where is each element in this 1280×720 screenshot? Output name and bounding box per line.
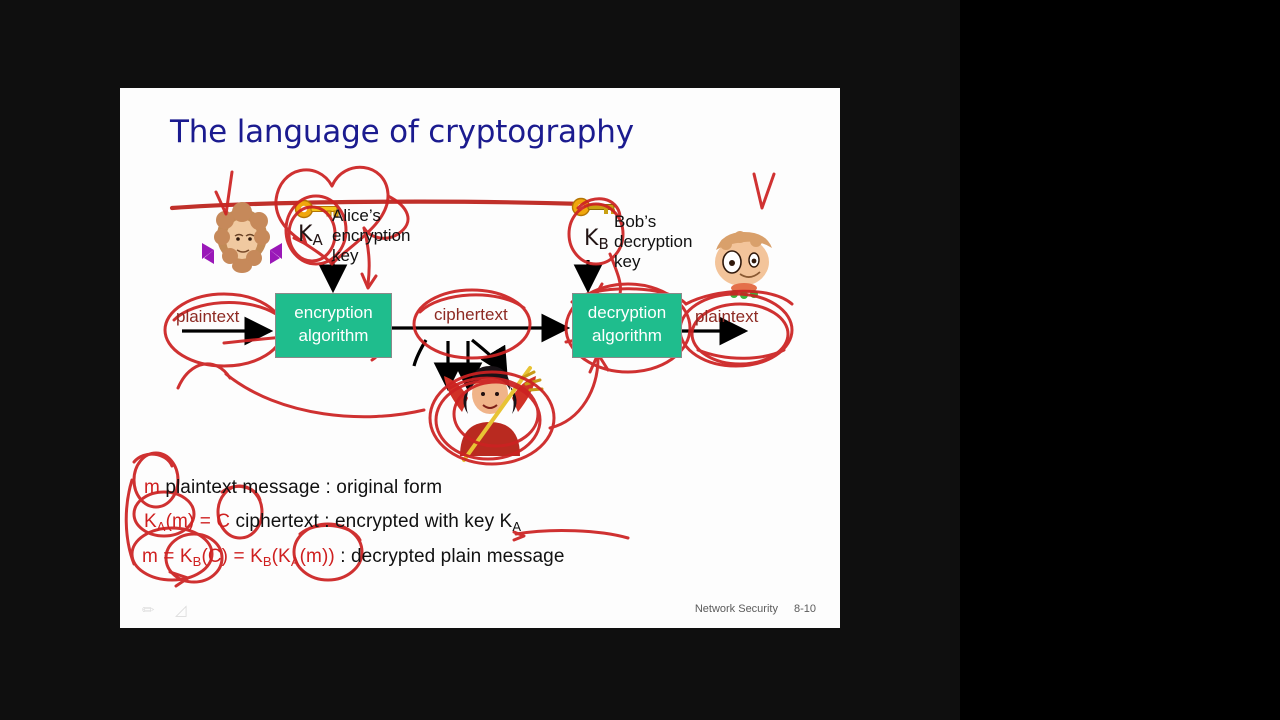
def2-eq: (m) = C	[166, 511, 231, 532]
definition-line-1: m plaintext message : original form	[144, 471, 442, 505]
def3-c-sub: A	[291, 554, 300, 569]
definition-line-3: m = KB(C) = KB(KA(m)) : decrypted plain …	[142, 540, 565, 579]
eraser-icon[interactable]: ◿	[175, 601, 187, 619]
alice-key-caption: Alice’sencryptionkey	[332, 206, 410, 266]
footer-page-number: 8-10	[794, 603, 816, 615]
encryption-algorithm-box: encryptionalgorithm	[275, 293, 392, 358]
alice-cartoon-figure	[202, 202, 282, 273]
def2-ka-sub: A	[157, 519, 166, 534]
def2-keysub: A	[512, 519, 521, 534]
decryption-algorithm-box: decryptionalgorithm	[572, 293, 682, 358]
def3-b: (C) = K	[201, 546, 262, 567]
participant-sidebar: Faisal Hussain, Lecturer, CSE	[960, 0, 1280, 720]
slide-footer: Network Security8-10	[695, 603, 816, 615]
def3-c: (K	[272, 546, 291, 567]
shared-screen-region: The language of cryptography Alice’sencr…	[0, 0, 960, 720]
annotation-toolbar[interactable]: ✏ ◿	[142, 601, 203, 620]
ka-letter: K	[298, 222, 312, 247]
screen-share-root: The language of cryptography Alice’sencr…	[0, 0, 1280, 720]
footer-course: Network Security	[695, 603, 778, 615]
slide-title: The language of cryptography	[170, 114, 634, 150]
presentation-slide[interactable]: The language of cryptography Alice’sencr…	[120, 88, 840, 628]
def3-text: : decrypted plain message	[335, 546, 565, 567]
def2-ka: K	[144, 511, 157, 532]
plaintext-input-label: plaintext	[176, 307, 239, 327]
def3-d: (m))	[300, 546, 335, 567]
alice-key-symbol: KA	[298, 222, 323, 249]
def2-text: ciphertext : encrypted with key K	[230, 511, 512, 532]
plaintext-output-label: plaintext	[695, 307, 758, 327]
bob-key-caption: Bob’sdecryptionkey	[614, 212, 692, 272]
def3-b-sub: B	[263, 554, 272, 569]
def1-text: plaintext message : original form	[160, 477, 442, 498]
kb-letter: K	[584, 226, 598, 251]
bob-cartoon-figure	[715, 231, 772, 299]
ka-subscript: A	[312, 231, 322, 249]
bob-key-symbol: KB	[584, 226, 609, 253]
def1-symbol: m	[144, 477, 160, 498]
pen-icon[interactable]: ✏	[142, 601, 155, 619]
kb-subscript: B	[598, 235, 608, 253]
def3-a: m = K	[142, 546, 193, 567]
definition-line-2: KA(m) = C ciphertext : encrypted with ke…	[144, 505, 521, 544]
ciphertext-label: ciphertext	[434, 305, 508, 325]
